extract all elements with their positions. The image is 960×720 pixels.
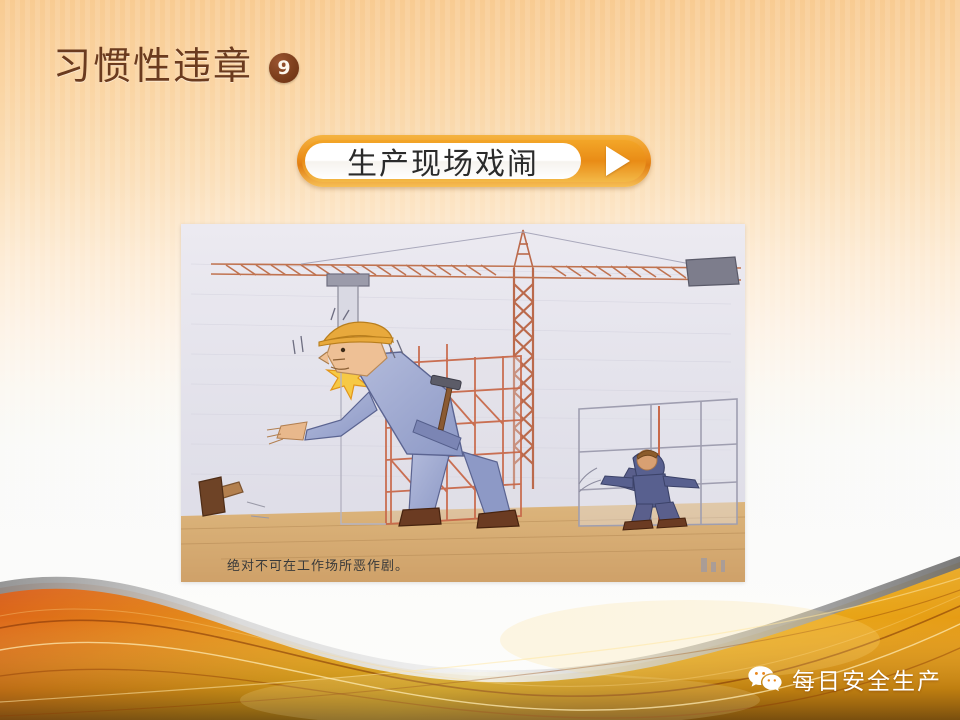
- topic-banner[interactable]: 生产现场戏闹: [297, 135, 651, 187]
- title-number-badge: 9: [269, 53, 299, 83]
- topic-banner-inner: 生产现场戏闹: [302, 140, 646, 182]
- page-title: 习惯性违章 9: [53, 47, 299, 85]
- wechat-account-name: 每日安全生产: [792, 662, 942, 696]
- slide-canvas: 习惯性违章 9 生产现场戏闹: [0, 0, 960, 720]
- play-triangle-icon[interactable]: [606, 146, 630, 176]
- wechat-account-footer[interactable]: 每日安全生产: [747, 662, 942, 696]
- topic-banner-pill: 生产现场戏闹: [305, 143, 581, 179]
- topic-banner-label: 生产现场戏闹: [347, 139, 539, 183]
- wechat-logo-icon: [747, 664, 783, 694]
- page-title-label: 习惯性违章: [53, 47, 253, 85]
